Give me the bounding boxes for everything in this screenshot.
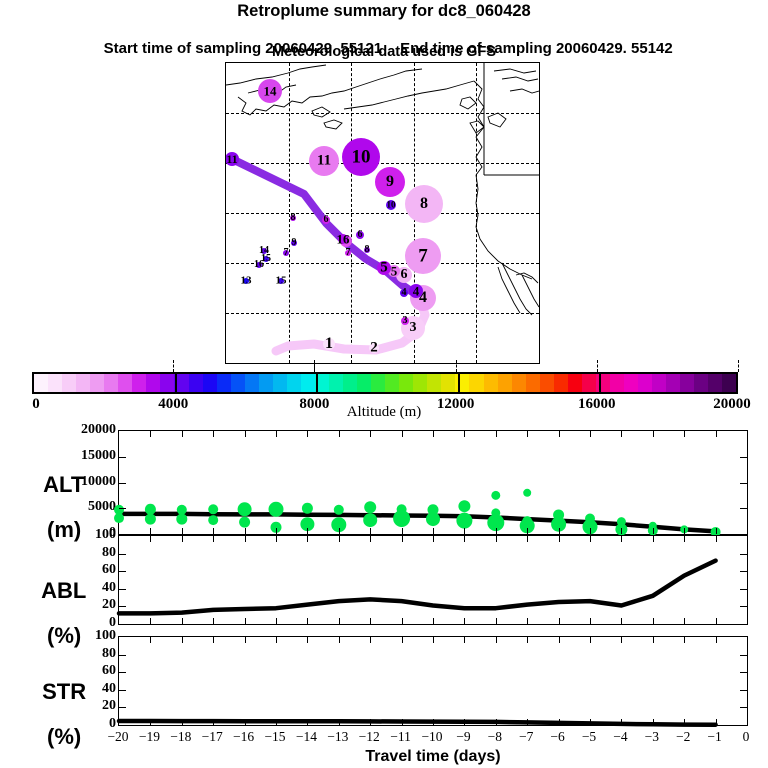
x-tick <box>653 528 654 534</box>
y-tick-label: 100 <box>95 628 116 644</box>
x-axis-tick-labels: −20−19−18−17−16−15−14−13−12−11−10−9−8−7−… <box>118 729 748 745</box>
y-tick-right <box>740 655 747 656</box>
colorbar-separator <box>175 374 177 392</box>
map-cluster-label: 16 <box>337 233 350 246</box>
x-tick-top <box>559 637 560 643</box>
y-tick-label: 15000 <box>81 448 116 464</box>
colorbar-band <box>160 374 174 392</box>
colorbar-tick <box>738 360 739 372</box>
x-tick-top <box>213 431 214 437</box>
y-tick-right <box>740 672 747 673</box>
x-tick-top <box>684 536 685 542</box>
map-cluster-label: 8 <box>365 245 370 255</box>
x-tick-label: −5 <box>582 729 596 745</box>
alt-series-svg <box>119 431 747 534</box>
x-tick-label: −10 <box>421 729 442 745</box>
x-tick <box>182 528 183 534</box>
x-tick <box>716 719 717 725</box>
map-cluster-label: 5 <box>391 265 398 278</box>
map-cluster-label: 3 <box>410 321 417 335</box>
colorbar-band <box>259 374 273 392</box>
map-cluster-label: 14 <box>264 85 277 98</box>
colorbar-band <box>399 374 413 392</box>
x-tick-top <box>464 431 465 437</box>
colorbar-band <box>526 374 540 392</box>
x-tick <box>339 719 340 725</box>
colorbar-band <box>104 374 118 392</box>
y-tick <box>119 655 126 656</box>
x-tick-label: −2 <box>676 729 690 745</box>
x-tick-top <box>370 536 371 542</box>
x-tick-top <box>464 637 465 643</box>
colorbar-band <box>441 374 455 392</box>
colorbar-separator <box>458 374 460 392</box>
x-tick <box>150 528 151 534</box>
x-tick <box>402 528 403 534</box>
x-tick <box>339 618 340 624</box>
y-tick-label: 40 <box>102 580 116 596</box>
x-tick-top <box>716 431 717 437</box>
y-tick <box>119 483 126 484</box>
x-tick-top <box>276 431 277 437</box>
x-tick <box>590 719 591 725</box>
x-tick <box>339 528 340 534</box>
y-tick-label: 100 <box>95 527 116 543</box>
x-tick-top <box>684 431 685 437</box>
colorbar-band <box>231 374 245 392</box>
colorbar-tick <box>173 360 174 372</box>
x-tick-top <box>621 431 622 437</box>
x-tick-top <box>307 637 308 643</box>
y-tick <box>119 457 126 458</box>
x-tick <box>276 618 277 624</box>
x-tick-top <box>370 431 371 437</box>
page-title: Retroplume summary for dc8_060428 <box>0 2 768 21</box>
map-cluster-label: 4 <box>413 285 420 298</box>
x-tick <box>402 719 403 725</box>
x-tick-top <box>433 637 434 643</box>
map-cluster-label: 8 <box>291 213 296 223</box>
x-tick-top <box>276 536 277 542</box>
x-tick-label: −6 <box>550 729 564 745</box>
x-tick <box>464 719 465 725</box>
x-tick <box>684 528 685 534</box>
colorbar-band <box>48 374 62 392</box>
x-tick <box>464 618 465 624</box>
y-tick-label: 20 <box>102 597 116 613</box>
x-tick <box>245 528 246 534</box>
colorbar-band <box>568 374 582 392</box>
x-tick-top <box>339 637 340 643</box>
x-tick-top <box>590 431 591 437</box>
x-tick-top <box>339 431 340 437</box>
colorbar-band <box>708 374 722 392</box>
x-tick <box>590 618 591 624</box>
x-tick-top <box>245 431 246 437</box>
map-cluster-label: 5 <box>380 261 388 276</box>
x-tick-label: −14 <box>296 729 317 745</box>
y-tick-label: 40 <box>102 681 116 697</box>
colorbar-band <box>217 374 231 392</box>
x-tick <box>433 719 434 725</box>
x-tick-label: −16 <box>233 729 254 745</box>
x-tick-top <box>182 431 183 437</box>
map-cluster-label: 8 <box>420 196 428 212</box>
x-tick-top <box>527 637 528 643</box>
x-tick <box>150 618 151 624</box>
y-tick-right <box>740 554 747 555</box>
x-tick-label: −15 <box>264 729 285 745</box>
map-cluster-label: 1 <box>325 336 333 352</box>
x-tick-top <box>590 637 591 643</box>
abl-series-svg <box>119 536 747 624</box>
colorbar-band <box>624 374 638 392</box>
str-y-tick-labels: 020406080100 <box>58 636 116 726</box>
map-cluster-label: 15 <box>276 276 287 287</box>
map-cluster-label: 3 <box>403 316 408 326</box>
x-tick <box>621 528 622 534</box>
colorbar-band <box>610 374 624 392</box>
x-tick <box>433 618 434 624</box>
x-tick <box>307 528 308 534</box>
map-cluster-label: 7 <box>418 247 428 266</box>
map-cluster-label: 13 <box>241 276 252 287</box>
x-tick-label: −20 <box>107 729 128 745</box>
x-tick-label: −13 <box>327 729 348 745</box>
colorbar-separator <box>316 374 318 392</box>
x-tick-label: −18 <box>170 729 191 745</box>
x-tick-top <box>182 637 183 643</box>
x-tick-top <box>402 637 403 643</box>
x-tick-top <box>653 637 654 643</box>
x-tick-top <box>402 536 403 542</box>
x-tick-label: 0 <box>743 729 750 745</box>
y-tick-label: 60 <box>102 562 116 578</box>
y-tick-right <box>740 457 747 458</box>
y-tick-right <box>740 690 747 691</box>
colorbar-band <box>273 374 287 392</box>
colorbar-band <box>34 374 48 392</box>
colorbar-band <box>245 374 259 392</box>
x-tick-top <box>150 637 151 643</box>
x-tick-top <box>653 536 654 542</box>
colorbar-band <box>484 374 498 392</box>
colorbar-band <box>554 374 568 392</box>
y-tick <box>119 606 126 607</box>
map-cluster-label: 9 <box>292 238 297 248</box>
colorbar-band <box>132 374 146 392</box>
x-tick-top <box>150 536 151 542</box>
y-tick-right <box>740 606 747 607</box>
x-tick-label: −4 <box>613 729 627 745</box>
colorbar-band <box>385 374 399 392</box>
colorbar-band <box>146 374 160 392</box>
x-tick-top <box>527 431 528 437</box>
x-tick-top <box>307 431 308 437</box>
y-tick-label: 10000 <box>81 474 116 490</box>
str-plot[interactable] <box>118 636 748 726</box>
x-tick <box>182 719 183 725</box>
map-cluster-label: 4 <box>402 288 407 298</box>
colorbar-title: Altitude (m) <box>0 404 768 421</box>
colorbar-tick <box>456 360 457 372</box>
x-tick-top <box>590 536 591 542</box>
y-tick-label: 5000 <box>88 499 116 515</box>
colorbar-band <box>371 374 385 392</box>
map-cluster-label: 11 <box>317 154 331 169</box>
x-tick-top <box>716 536 717 542</box>
colorbar-gradient <box>32 372 738 394</box>
colorbar-band <box>666 374 680 392</box>
x-tick-top <box>213 637 214 643</box>
x-tick <box>527 618 528 624</box>
retroplume-map[interactable]: 1411111098107655444332166786897141516131… <box>225 62 540 364</box>
x-tick <box>370 528 371 534</box>
colorbar-band <box>680 374 694 392</box>
colorbar-band <box>413 374 427 392</box>
colorbar-band <box>203 374 217 392</box>
x-tick-label: −8 <box>488 729 502 745</box>
x-tick-label: −3 <box>645 729 659 745</box>
x-tick <box>653 618 654 624</box>
x-axis-title: Travel time (days) <box>118 748 748 766</box>
trajectory-path <box>226 63 539 363</box>
x-tick <box>716 618 717 624</box>
x-tick-top <box>245 536 246 542</box>
map-cluster-label: 9 <box>386 174 394 190</box>
y-tick-label: 20 <box>102 698 116 714</box>
str-series-svg <box>119 637 747 725</box>
map-cluster-label: 10 <box>352 148 371 167</box>
x-tick <box>307 618 308 624</box>
colorbar-tick <box>314 360 315 372</box>
y-tick-label: 20000 <box>81 422 116 438</box>
x-tick <box>559 528 560 534</box>
colorbar-band <box>652 374 666 392</box>
x-tick <box>684 719 685 725</box>
x-tick <box>182 618 183 624</box>
x-tick <box>496 618 497 624</box>
x-tick <box>276 719 277 725</box>
colorbar-band <box>694 374 708 392</box>
colorbar-band <box>343 374 357 392</box>
y-tick-right <box>740 589 747 590</box>
x-tick-top <box>402 431 403 437</box>
colorbar-band <box>189 374 203 392</box>
x-tick-top <box>464 536 465 542</box>
x-tick-label: −1 <box>707 729 721 745</box>
y-tick <box>119 508 126 509</box>
x-tick-top <box>276 637 277 643</box>
alt-y-tick-labels: 05000100001500020000 <box>58 430 116 535</box>
x-tick-label: −7 <box>519 729 533 745</box>
y-tick-label: 80 <box>102 545 116 561</box>
y-tick-label: 80 <box>102 646 116 662</box>
x-tick <box>213 528 214 534</box>
x-tick <box>245 719 246 725</box>
colorbar-band <box>498 374 512 392</box>
y-tick-right <box>740 508 747 509</box>
colorbar-band <box>427 374 441 392</box>
x-tick <box>496 528 497 534</box>
y-tick <box>119 707 126 708</box>
x-tick <box>370 618 371 624</box>
map-cluster-label: 7 <box>346 248 351 258</box>
x-tick-top <box>496 637 497 643</box>
map-cluster-label: 16 <box>254 260 264 270</box>
x-tick <box>276 528 277 534</box>
x-tick <box>653 719 654 725</box>
x-tick-label: −17 <box>202 729 223 745</box>
x-tick-top <box>559 536 560 542</box>
y-tick-right <box>740 483 747 484</box>
x-tick-top <box>684 637 685 643</box>
x-tick-top <box>150 431 151 437</box>
x-tick-top <box>716 637 717 643</box>
map-cluster-label: 6 <box>358 230 363 240</box>
x-tick <box>464 528 465 534</box>
x-tick <box>684 618 685 624</box>
x-tick-top <box>433 536 434 542</box>
x-tick-top <box>245 637 246 643</box>
x-tick-label: −12 <box>359 729 380 745</box>
y-tick-right <box>740 707 747 708</box>
met-data-label: Meteorological data used is GFS <box>0 44 768 60</box>
x-tick-top <box>182 536 183 542</box>
colorbar-band <box>357 374 371 392</box>
colorbar-band <box>76 374 90 392</box>
x-tick-top <box>433 431 434 437</box>
x-tick <box>496 719 497 725</box>
map-cluster-label: 6 <box>324 215 329 225</box>
x-tick <box>590 528 591 534</box>
abl-plot[interactable] <box>118 535 748 625</box>
colorbar: 040008000120001600020000 <box>32 372 738 394</box>
x-tick <box>621 618 622 624</box>
x-tick-top <box>496 431 497 437</box>
x-tick-top <box>370 637 371 643</box>
x-tick-top <box>527 536 528 542</box>
colorbar-band <box>301 374 315 392</box>
colorbar-band <box>469 374 483 392</box>
x-tick <box>559 618 560 624</box>
x-tick-label: −19 <box>139 729 160 745</box>
y-tick <box>119 672 126 673</box>
colorbar-band <box>62 374 76 392</box>
colorbar-band <box>540 374 554 392</box>
colorbar-tick <box>597 360 598 372</box>
map-cluster-label: 2 <box>370 341 378 356</box>
colorbar-band <box>512 374 526 392</box>
x-tick-top <box>213 536 214 542</box>
x-tick <box>433 528 434 534</box>
y-tick <box>119 571 126 572</box>
x-tick <box>716 528 717 534</box>
x-tick <box>307 719 308 725</box>
y-tick <box>119 690 126 691</box>
x-tick-top <box>496 536 497 542</box>
alt-plot[interactable] <box>118 430 748 535</box>
x-tick <box>559 719 560 725</box>
y-tick <box>119 554 126 555</box>
y-tick-label: 60 <box>102 663 116 679</box>
x-tick <box>213 719 214 725</box>
x-tick-top <box>339 536 340 542</box>
y-tick <box>119 589 126 590</box>
x-tick-top <box>621 536 622 542</box>
x-tick-top <box>653 431 654 437</box>
x-tick <box>245 618 246 624</box>
map-cluster-label: 11 <box>226 153 237 165</box>
x-tick-label: −11 <box>390 729 411 745</box>
x-tick-top <box>559 431 560 437</box>
colorbar-band <box>638 374 652 392</box>
colorbar-band <box>582 374 596 392</box>
colorbar-separator <box>599 374 601 392</box>
colorbar-band <box>287 374 301 392</box>
map-cluster-label: 6 <box>401 268 408 282</box>
x-tick-label: −9 <box>456 729 470 745</box>
x-tick-top <box>621 637 622 643</box>
y-tick-right <box>740 571 747 572</box>
x-tick <box>621 719 622 725</box>
x-tick-top <box>307 536 308 542</box>
map-cluster-label: 10 <box>387 201 396 210</box>
colorbar-band <box>329 374 343 392</box>
colorbar-band <box>722 374 736 392</box>
x-tick <box>150 719 151 725</box>
map-inner: 1411111098107655444332166786897141516131… <box>226 63 539 363</box>
colorbar-band <box>90 374 104 392</box>
x-tick <box>213 618 214 624</box>
x-tick <box>527 719 528 725</box>
x-tick <box>527 528 528 534</box>
x-tick <box>402 618 403 624</box>
x-tick <box>370 719 371 725</box>
colorbar-band <box>118 374 132 392</box>
map-cluster-label: 7 <box>284 248 289 258</box>
abl-y-tick-labels: 020406080100 <box>58 535 116 625</box>
